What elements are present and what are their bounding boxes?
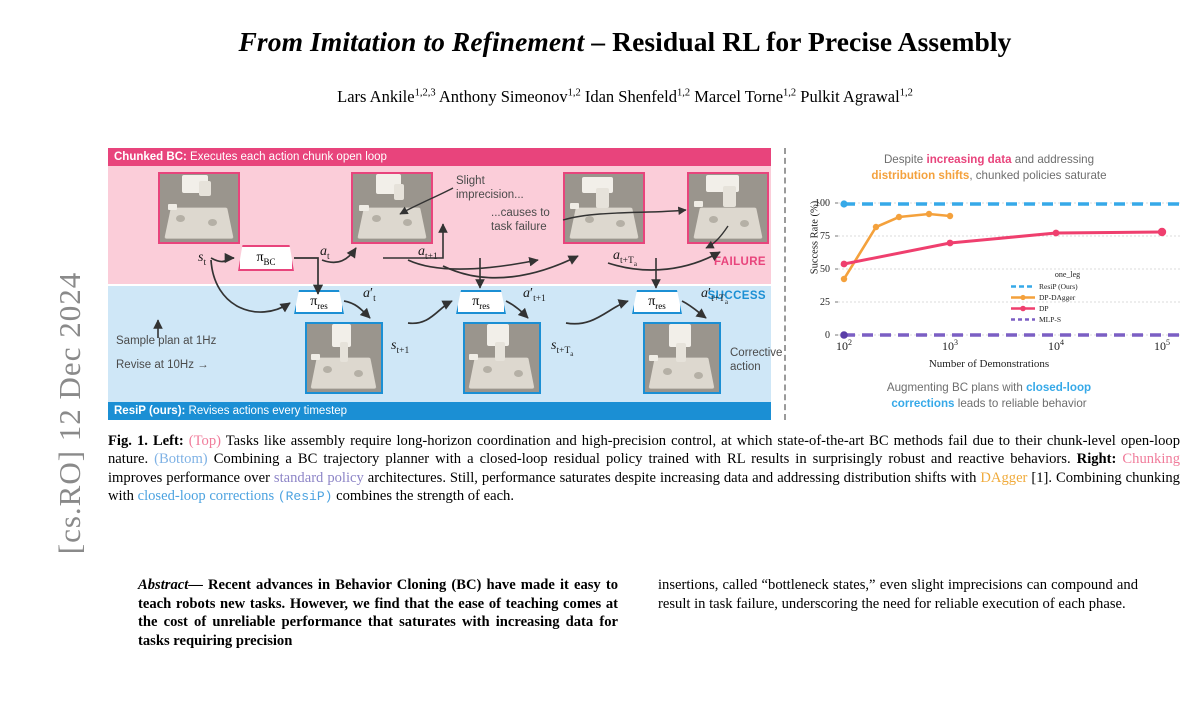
annotation-line: action (730, 361, 761, 373)
caption-highlight-increasing-data: increasing data (926, 153, 1011, 166)
chart-x-tick: 105 (1142, 338, 1182, 354)
robot-frame-bc-4 (687, 172, 769, 244)
pi-subscript: res (479, 300, 490, 310)
pi-subscript: res (655, 300, 666, 310)
legend-swatch (1010, 304, 1036, 313)
abstract-heading: Abstract (138, 577, 188, 593)
legend-swatch (1010, 315, 1036, 324)
chunked-bc-header: Chunked BC: Executes each action chunk o… (108, 148, 771, 166)
symbol: a (418, 244, 425, 259)
caption-standard-policy-tag: standard policy (274, 470, 364, 486)
chart-x-tick: 102 (824, 338, 864, 354)
caption-fig-label: Fig. 1. (108, 433, 148, 449)
chart-x-axis-label: Number of Demonstrations (798, 358, 1180, 370)
author-entry: Idan Shenfeld1,2 (585, 87, 690, 106)
subscript: t+1 (425, 252, 438, 262)
caption-segment: and addressing (1012, 153, 1095, 166)
chart-caption-top: Despite increasing data and addressing d… (798, 152, 1180, 183)
caption-segment: Despite (884, 153, 927, 166)
pi-subscript: BC (264, 256, 276, 266)
caption-resip-mono: (ResiP) (278, 489, 333, 504)
annotation-sample-plan: Sample plan at 1Hz (116, 334, 216, 348)
caption-top-tag: (Top) (189, 433, 221, 449)
author-name: Pulkit Agrawal (800, 87, 899, 106)
title-italic-part: From Imitation to Refinement (238, 26, 584, 57)
legend-label: DP (1039, 304, 1049, 313)
legend-label: DP-DAgger (1039, 293, 1075, 302)
symbol: a (613, 248, 620, 263)
abstract-column-left: Abstract— Recent advances in Behavior Cl… (138, 576, 618, 650)
author-entry: Anthony Simeonov1,2 (439, 87, 581, 106)
author-name: Anthony Simeonov (439, 87, 568, 106)
subscript: t (327, 252, 330, 262)
math-label-a-t-Ta: at+Ta (613, 248, 637, 268)
author-entry: Lars Ankile1,2,3 (337, 87, 435, 106)
tick-base: 10 (836, 339, 848, 353)
abstract-column-right: insertions, called “bottleneck states,” … (658, 576, 1138, 613)
legend-swatch (1010, 282, 1036, 291)
annotation-slight-imprecision: Slight imprecision... (456, 174, 524, 203)
legend-item-mlps: MLP-S (1010, 314, 1125, 325)
caption-segment-6: combines the strength of each. (332, 488, 514, 504)
resip-footer-bold: ResiP (ours): (114, 405, 185, 417)
author-affiliation: 1,2 (900, 88, 913, 99)
annotation-line: imprecision... (456, 189, 524, 201)
subscript2: a (725, 298, 728, 306)
chart-x-tick: 103 (930, 338, 970, 354)
symbol: a (523, 286, 530, 301)
policy-box-pi-res-1: πres (294, 290, 344, 314)
tick-exponent: 3 (954, 338, 958, 347)
pi-glyph: π (256, 250, 263, 265)
chunked-bc-panel: Chunked BC: Executes each action chunk o… (108, 148, 771, 284)
chart-x-tick: 104 (1036, 338, 1076, 354)
caption-highlight-corrections: corrections (891, 397, 954, 410)
math-label-a-prime-t: a′t (363, 286, 376, 304)
robot-frame-bc-3 (563, 172, 645, 244)
figure-1: Chunked BC: Executes each action chunk o… (108, 148, 1180, 420)
annotation-line: task failure (491, 221, 547, 233)
author-list: Lars Ankile1,2,3 Anthony Simeonov1,2 Ida… (70, 87, 1180, 107)
title-block: From Imitation to Refinement – Residual … (70, 26, 1180, 107)
caption-segment-3: improves performance over (108, 470, 274, 486)
author-affiliation: 1,2 (677, 88, 690, 99)
subscript: t (373, 294, 376, 304)
annotation-line: Revise at 10Hz → (116, 359, 209, 371)
symbol: a (320, 244, 327, 259)
annotation-corrective-action: Corrective action (730, 346, 782, 375)
caption-bottom-tag: (Bottom) (154, 451, 208, 467)
math-label-a-t1: at+1 (418, 244, 438, 262)
author-affiliation: 1,2,3 (415, 88, 436, 99)
author-name: Idan Shenfeld (585, 87, 677, 106)
chunked-bc-header-rest: Executes each action chunk open loop (187, 151, 387, 163)
chunked-bc-header-bold: Chunked BC: (114, 151, 187, 163)
caption-left-label: Left: (153, 433, 184, 449)
title-rest: – Residual RL for Precise Assembly (584, 26, 1011, 57)
legend-swatch (1010, 293, 1036, 302)
caption-closed-loop-tag: closed-loop corrections (138, 488, 275, 504)
math-label-s-t1: st+1 (391, 338, 409, 356)
policy-box-label: πres (648, 294, 666, 311)
math-label-a-prime-t-Ta: a′t+Ta (701, 286, 728, 306)
author-name: Marcel Torne (694, 87, 783, 106)
chart-legend: one_leg ResiP (Ours) DP-DAgger DP MLP-S (1010, 270, 1125, 325)
caption-segment-2: Combining a BC trajectory planner with a… (208, 451, 1077, 467)
caption-right-label: Right: (1077, 451, 1117, 467)
policy-box-label: πBC (256, 250, 275, 267)
math-label-a-t: at (320, 244, 330, 262)
caption-highlight-closed-loop: closed-loop (1026, 381, 1091, 394)
author-name: Lars Ankile (337, 87, 414, 106)
author-affiliation: 1,2 (783, 88, 796, 99)
caption-highlight-distribution-shifts: distribution shifts (871, 169, 969, 182)
tick-base: 10 (1048, 339, 1060, 353)
figure-divider (784, 148, 786, 420)
figure-caption: Fig. 1. Left: (Top) Tasks like assembly … (108, 432, 1180, 506)
resip-footer: ResiP (ours): Revises actions every time… (108, 402, 771, 420)
caption-segment: , chunked policies saturate (969, 169, 1106, 182)
subscript: t+T (711, 294, 725, 304)
annotation-revise-rate: Revise at 10Hz → (116, 358, 209, 372)
tick-exponent: 5 (1166, 338, 1170, 347)
legend-item-resip: ResiP (Ours) (1010, 281, 1125, 292)
legend-item-dp-dagger: DP-DAgger (1010, 292, 1125, 303)
math-label-s-t: st (198, 250, 206, 268)
author-entry: Marcel Torne1,2 (694, 87, 796, 106)
abstract-text-right: insertions, called “bottleneck states,” … (658, 577, 1138, 612)
author-affiliation: 1,2 (568, 88, 581, 99)
robot-frame-bc-2 (351, 172, 433, 244)
caption-segment: leads to reliable behavior (955, 397, 1087, 410)
abstract-text-left: Recent advances in Behavior Cloning (BC)… (138, 577, 618, 649)
resip-footer-rest: Revises actions every timestep (185, 405, 347, 417)
policy-box-pi-res-2: πres (456, 290, 506, 314)
caption-dagger-tag: DAgger (980, 470, 1027, 486)
symbol: a (701, 286, 708, 301)
annotation-line: ...causes to (491, 207, 550, 219)
tick-exponent: 2 (848, 338, 852, 347)
policy-box-label: πres (472, 294, 490, 311)
annotation-line: Slight (456, 175, 485, 187)
robot-frame-resip-1 (305, 322, 383, 394)
subscript: t+T (620, 256, 634, 266)
annotation-line: Sample plan at 1Hz (116, 335, 216, 347)
author-entry: Pulkit Agrawal1,2 (800, 87, 913, 106)
arxiv-stamp-text: [cs.RO] 12 Dec 2024 (52, 113, 88, 713)
policy-box-pi-res-3: πres (632, 290, 682, 314)
tick-exponent: 4 (1060, 338, 1064, 347)
caption-segment: Augmenting BC plans with (887, 381, 1026, 394)
annotation-line: Corrective (730, 347, 782, 359)
figure-left-diagram: Chunked BC: Executes each action chunk o… (108, 148, 771, 420)
subscript2: a (634, 260, 637, 268)
legend-label: ResiP (Ours) (1039, 282, 1078, 291)
chart-caption-bottom: Augmenting BC plans with closed-loop cor… (798, 380, 1180, 411)
subscript: t+1 (533, 294, 546, 304)
symbol: a (363, 286, 370, 301)
policy-box-pi-bc: πBC (238, 245, 294, 271)
pi-subscript: res (317, 300, 328, 310)
robot-frame-resip-2 (463, 322, 541, 394)
subscript2: a (570, 350, 573, 358)
subscript: t (203, 258, 206, 268)
robot-frame-resip-3 (643, 322, 721, 394)
subscript: t+1 (396, 346, 409, 356)
arxiv-stamp: [cs.RO] 12 Dec 2024 (0, 0, 70, 648)
annotation-task-failure: ...causes to task failure (491, 206, 550, 235)
status-badge-failure: FAILURE (714, 256, 766, 268)
math-label-a-prime-t1: a′t+1 (523, 286, 546, 304)
tick-base: 10 (1154, 339, 1166, 353)
robot-frame-bc-1 (158, 172, 240, 244)
tick-base: 10 (942, 339, 954, 353)
caption-chunking-tag: Chunking (1122, 451, 1180, 467)
legend-label: MLP-S (1039, 315, 1061, 324)
subscript: t+T (556, 346, 570, 356)
chart-series-dp (844, 232, 1162, 264)
page-title: From Imitation to Refinement – Residual … (70, 26, 1180, 58)
abstract-dash: — (188, 577, 203, 593)
math-label-s-t-Ta: st+Ta (551, 338, 573, 358)
policy-box-label: πres (310, 294, 328, 311)
success-rate-chart: Success Rate (%) 100 75 50 25 0 (798, 192, 1180, 377)
figure-right-chart: Despite increasing data and addressing d… (798, 148, 1180, 420)
legend-item-dp: DP (1010, 303, 1125, 314)
legend-title: one_leg (1010, 270, 1125, 279)
caption-segment-4: architectures. Still, performance satura… (364, 470, 981, 486)
